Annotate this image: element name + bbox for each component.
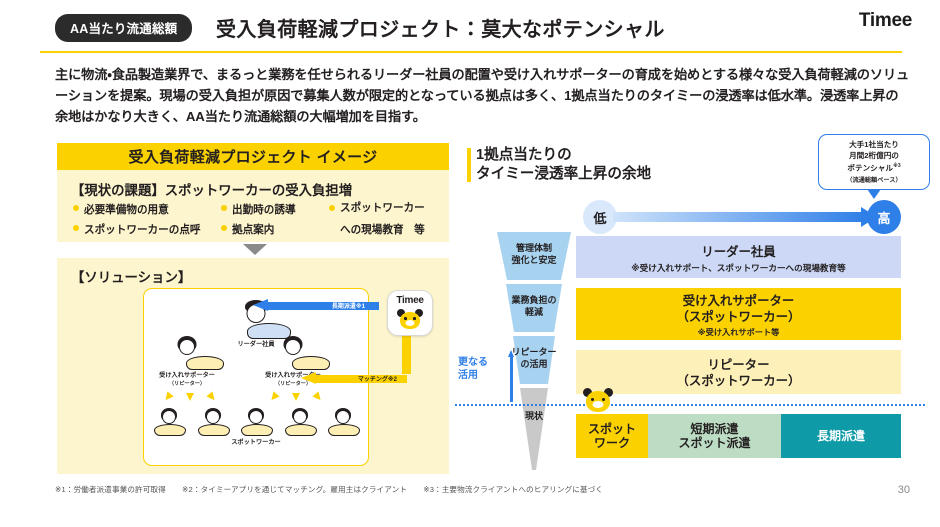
arrow-shaft — [510, 356, 513, 402]
connector-arrow-icon — [206, 391, 217, 402]
right-title-line1: 1拠点当たりの — [476, 146, 651, 165]
arrow-head-icon — [253, 299, 268, 311]
right-title-line2: タイミー浸透率上昇の余地 — [476, 165, 651, 184]
bear-mascot-icon-bottom — [583, 388, 613, 412]
person-supporter-left: 受け入れサポーター （リピーター） — [150, 335, 224, 388]
spot-worker-avatars — [152, 407, 360, 436]
bullet-label: 出勤時の誘導 — [232, 202, 296, 217]
bullet-label: への現場教育 等 — [340, 222, 425, 237]
bullet-dot-icon — [73, 225, 79, 231]
bullet-label: スポットワーカー — [340, 202, 425, 215]
left-panel-heading: 受入負荷軽減プロジェクト イメージ — [57, 143, 449, 170]
list-item: への現場教育 等 — [329, 222, 425, 237]
body-shape — [292, 356, 330, 370]
issue-title: 【現状の課題】スポットワーカーの受入負担増 — [71, 179, 352, 199]
dispatch-arrow-label: 長期派遣※1 — [332, 301, 365, 310]
funnel-label-4-line1: 現状 — [525, 411, 543, 421]
body-shape — [198, 424, 230, 436]
callout-pointer-icon — [867, 189, 881, 199]
connector-arrow-icon — [268, 391, 279, 402]
potential-callout: 大手1社当たり 月間2桁億円の ポテンシャル※3 （流通総額ベース） — [818, 134, 930, 190]
service-box-long-dispatch-label: 長期派遣 — [817, 429, 865, 443]
callout-line4: （流通総額ベース） — [819, 175, 929, 184]
timee-app-label: Timee — [388, 295, 432, 306]
avatar — [239, 407, 273, 436]
list-item: スポットワーカーの点呼 — [73, 222, 221, 237]
bullet-dot-icon — [329, 205, 335, 211]
service-box-short-dispatch-line1: 短期派遣 — [690, 422, 738, 436]
page-title: 受入負荷軽減プロジェクト：莫大なポテンシャル — [216, 13, 665, 42]
bear-mascot-icon — [397, 309, 423, 329]
slide-header: AA当たり流通総額 受入負荷軽減プロジェクト：莫大なポテンシャル Timee — [0, 0, 940, 52]
bear-eye-left — [404, 317, 407, 320]
funnel-label-1-line1: 管理体制 — [516, 243, 552, 253]
lead-paragraph: 主に物流・食品製造業界で、まるっと業務を任せられるリーダー社員の配置や受け入れサ… — [55, 64, 911, 127]
row-leader: リーダー社員 ※受け入れサポート、スポットワーカーへの現場教育等 — [576, 236, 901, 278]
bullet-label: 必要準備物の用意 — [84, 202, 169, 217]
face-shape — [285, 339, 301, 355]
body-shape — [186, 356, 224, 370]
left-panel: 受入負荷軽減プロジェクト イメージ 【現状の課題】スポットワーカーの受入負担増 … — [57, 143, 449, 474]
body-shape — [285, 424, 317, 436]
list-item: スポットワーカー — [329, 202, 425, 217]
arrow-head-icon — [301, 372, 316, 384]
avatar — [281, 335, 305, 358]
row-repeater: リピーター （スポットワーカー） — [576, 350, 901, 394]
row-leader-title: リーダー社員 — [576, 236, 901, 260]
funnel-label-1-line2: 強化と安定 — [511, 255, 556, 265]
more-use-line1: 更なる — [458, 357, 488, 368]
row-supporter-note: ※受け入れサポート等 — [576, 325, 901, 338]
solution-title: 【ソリューション】 — [71, 266, 191, 286]
header-divider — [40, 51, 902, 53]
avatar — [196, 407, 230, 436]
penetration-scale: 低 高 — [583, 200, 901, 234]
face-shape — [162, 410, 176, 424]
solution-section: 【ソリューション】 リーダー社員 — [57, 258, 449, 474]
more-use-line2: 活用 — [458, 370, 478, 381]
service-box-spotwork-line1: スポット — [588, 422, 636, 436]
funnel-label-4: 現状 — [497, 410, 571, 422]
issue-section: 【現状の課題】スポットワーカーの受入負担増 必要準備物の用意 出勤時の誘導 スポ… — [57, 170, 449, 242]
current-state-divider — [455, 404, 925, 406]
service-box-long-dispatch: 長期派遣 — [781, 414, 901, 458]
matching-arrow-label: マッチング※2 — [358, 374, 397, 383]
callout-line2: 月間2桁億円の — [819, 150, 929, 161]
callout-footnote-ref: ※3 — [893, 163, 901, 169]
list-item: 出勤時の誘導 — [221, 202, 329, 217]
face-shape — [293, 410, 307, 424]
service-box-short-dispatch-line2: スポット派遣 — [678, 436, 750, 450]
right-section-title: 1拠点当たりの タイミー浸透率上昇の余地 — [476, 146, 651, 184]
spot-worker-label: スポットワーカー — [152, 439, 360, 447]
person-label-line1: 受け入れサポーター — [159, 372, 215, 379]
service-box-spotwork-label: スポット ワーク — [588, 422, 636, 450]
person-label-line2: （リピーター） — [150, 380, 224, 388]
list-item: 拠点案内 — [221, 222, 329, 237]
bear-muzzle — [406, 320, 415, 326]
upward-arrow-icon — [508, 350, 515, 402]
funnel-label-1: 管理体制 強化と安定 — [497, 242, 571, 266]
more-use-label: 更なる 活用 — [458, 356, 504, 382]
avatar — [152, 407, 186, 436]
row-supporter-title-line2: （スポットワーカー） — [677, 310, 801, 324]
matching-arrow: マッチング※2 — [301, 372, 407, 385]
bear-eye-right — [602, 398, 605, 401]
footnote-2: ※2：タイミーアプリを通じてマッチング。雇用主はクライアント — [182, 485, 407, 494]
footnote-3: ※3：主要物流クライアントへのヒアリングに基づく — [423, 485, 603, 494]
face-shape — [336, 410, 350, 424]
funnel-label-2-line2: 軽減 — [525, 307, 543, 317]
callout-line1: 大手1社当たり — [819, 139, 929, 150]
bullet-label: スポットワーカーの点呼 — [84, 222, 201, 237]
spot-worker-group: スポットワーカー — [152, 407, 360, 447]
service-type-row: スポット ワーク 短期派遣 スポット派遣 長期派遣 — [576, 414, 901, 458]
funnel-label-3-line2: の活用 — [520, 359, 547, 369]
funnel-label-2-line1: 業務負担の — [511, 295, 556, 305]
row-leader-note: ※受け入れサポート、スポットワーカーへの現場教育等 — [576, 260, 901, 274]
bear-muzzle — [593, 401, 604, 408]
down-arrow-icon — [243, 244, 267, 255]
avatar — [326, 407, 360, 436]
service-box-short-dispatch-label: 短期派遣 スポット派遣 — [678, 422, 750, 450]
bullet-dot-icon — [221, 205, 227, 211]
callout-line3: ポテンシャル※3 — [819, 161, 929, 174]
face-shape — [249, 410, 263, 424]
body-shape — [154, 424, 186, 436]
service-box-short-dispatch: 短期派遣 スポット派遣 — [648, 414, 781, 458]
brand-logo: Timee — [859, 10, 912, 32]
row-supporter-title-line1: 受け入れサポーター — [683, 294, 795, 308]
header-tag: AA当たり流通総額 — [55, 14, 192, 42]
row-supporter: 受け入れサポーター （スポットワーカー） ※受け入れサポート等 — [576, 288, 901, 340]
body-shape — [241, 424, 273, 436]
scale-high-label: 高 — [867, 200, 901, 234]
matching-arrow-connector — [402, 334, 411, 374]
dispatch-arrow: 長期派遣※1 — [253, 299, 379, 312]
issue-bullet-list: 必要準備物の用意 出勤時の誘導 スポットワーカー スポットワーカーの点呼 — [73, 202, 443, 242]
row-supporter-title: 受け入れサポーター （スポットワーカー） — [576, 288, 901, 325]
avatar — [175, 335, 199, 358]
service-box-spotwork-line2: ワーク — [594, 436, 630, 450]
bear-eye-right — [413, 317, 416, 320]
footnote-1: ※1：労働者派遣事業の許可取得 — [55, 485, 166, 494]
bullet-row: スポットワーカーの点呼 拠点案内 への現場教育 等 — [73, 222, 443, 237]
body-shape — [328, 424, 360, 436]
person-label: 受け入れサポーター （リピーター） — [150, 372, 224, 388]
funnel-label-2: 業務負担の 軽減 — [497, 294, 571, 318]
row-repeater-title-line2: （スポットワーカー） — [677, 374, 801, 388]
callout-line3-text: ポテンシャル — [847, 164, 893, 173]
footnotes: ※1：労働者派遣事業の許可取得 ※2：タイミーアプリを通じてマッチング。雇用主は… — [55, 484, 617, 495]
row-repeater-title: リピーター （スポットワーカー） — [576, 350, 901, 389]
bullet-dot-icon — [221, 225, 227, 231]
connector-arrow-icon — [312, 391, 323, 402]
bear-eye-left — [591, 398, 594, 401]
connector-arrow-icon — [292, 393, 300, 401]
bullet-row: 必要準備物の用意 出勤時の誘導 スポットワーカー — [73, 202, 443, 217]
avatar — [283, 407, 317, 436]
list-item: 必要準備物の用意 — [73, 202, 221, 217]
connector-arrow-icon — [162, 391, 173, 402]
scale-low-label: 低 — [583, 200, 617, 234]
page-number: 30 — [898, 484, 910, 496]
scale-gradient-bar — [613, 212, 865, 222]
funnel-label-3-line1: リピーター — [511, 347, 556, 357]
bullet-label: 拠点案内 — [232, 222, 274, 237]
bullet-dot-icon — [73, 205, 79, 211]
face-shape — [179, 339, 195, 355]
service-box-spotwork: スポット ワーク — [576, 414, 648, 458]
connector-arrow-icon — [186, 393, 194, 401]
title-accent-bar — [467, 148, 471, 182]
row-repeater-title-line1: リピーター — [708, 358, 770, 372]
face-shape — [206, 410, 220, 424]
slide: AA当たり流通総額 受入負荷軽減プロジェクト：莫大なポテンシャル Timee 主… — [0, 0, 940, 527]
timee-app-icon: Timee — [387, 290, 433, 336]
